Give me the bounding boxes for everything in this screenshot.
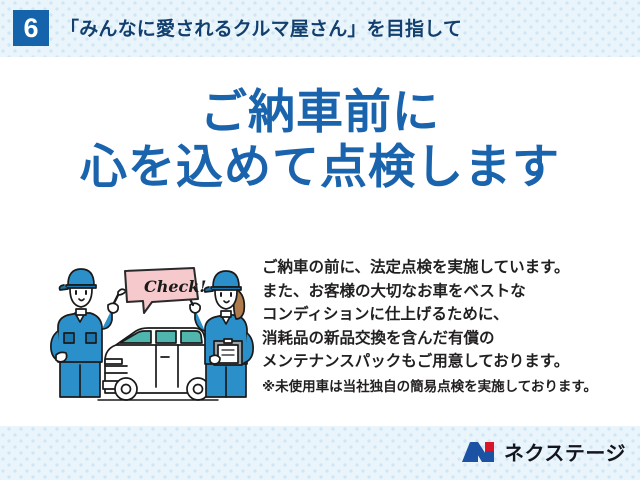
section-number-badge: 6 — [13, 10, 49, 46]
headline-line-1: ご納車前に — [0, 85, 640, 139]
header-title: 「みんなに愛されるクルマ屋さん」を目指して — [60, 14, 462, 41]
brand-logo: ネクステージ — [461, 437, 626, 466]
advertisement-canvas: 6 「みんなに愛されるクルマ屋さん」を目指して ご納車前に 心を込めて点検します — [0, 0, 640, 480]
description-line-3: コンディションに仕上げるために、 — [262, 303, 622, 327]
description-text-block: ご納車の前に、法定点検を実施しています。 また、お客様の大切なお車をベストな コ… — [262, 256, 622, 398]
van-graphic — [98, 328, 218, 400]
check-bubble-text: Check! — [144, 277, 206, 296]
description-line-2: また、お客様の大切なお車をベストな — [262, 280, 622, 304]
description-line-5: メンテナンスパックもご用意しております。 — [262, 350, 622, 374]
mechanics-illustration: Check! — [48, 265, 258, 405]
header-bar: 6 「みんなに愛されるクルマ屋さん」を目指して — [0, 0, 640, 56]
description-line-4: 消耗品の新品交換を含んだ有償の — [262, 327, 622, 351]
footer-bar: ネクステージ — [0, 426, 640, 480]
headline-line-2: 心を込めて点検します — [0, 139, 640, 195]
main-headline: ご納車前に 心を込めて点検します — [0, 85, 640, 195]
nextage-n-mark-icon — [461, 439, 497, 465]
content-panel: ご納車前に 心を込めて点検します — [0, 57, 640, 426]
brand-name: ネクステージ — [504, 437, 626, 466]
description-line-1: ご納車の前に、法定点検を実施しています。 — [262, 256, 622, 280]
description-note: ※未使用車は当社独自の簡易点検を実施しております。 — [262, 376, 622, 398]
